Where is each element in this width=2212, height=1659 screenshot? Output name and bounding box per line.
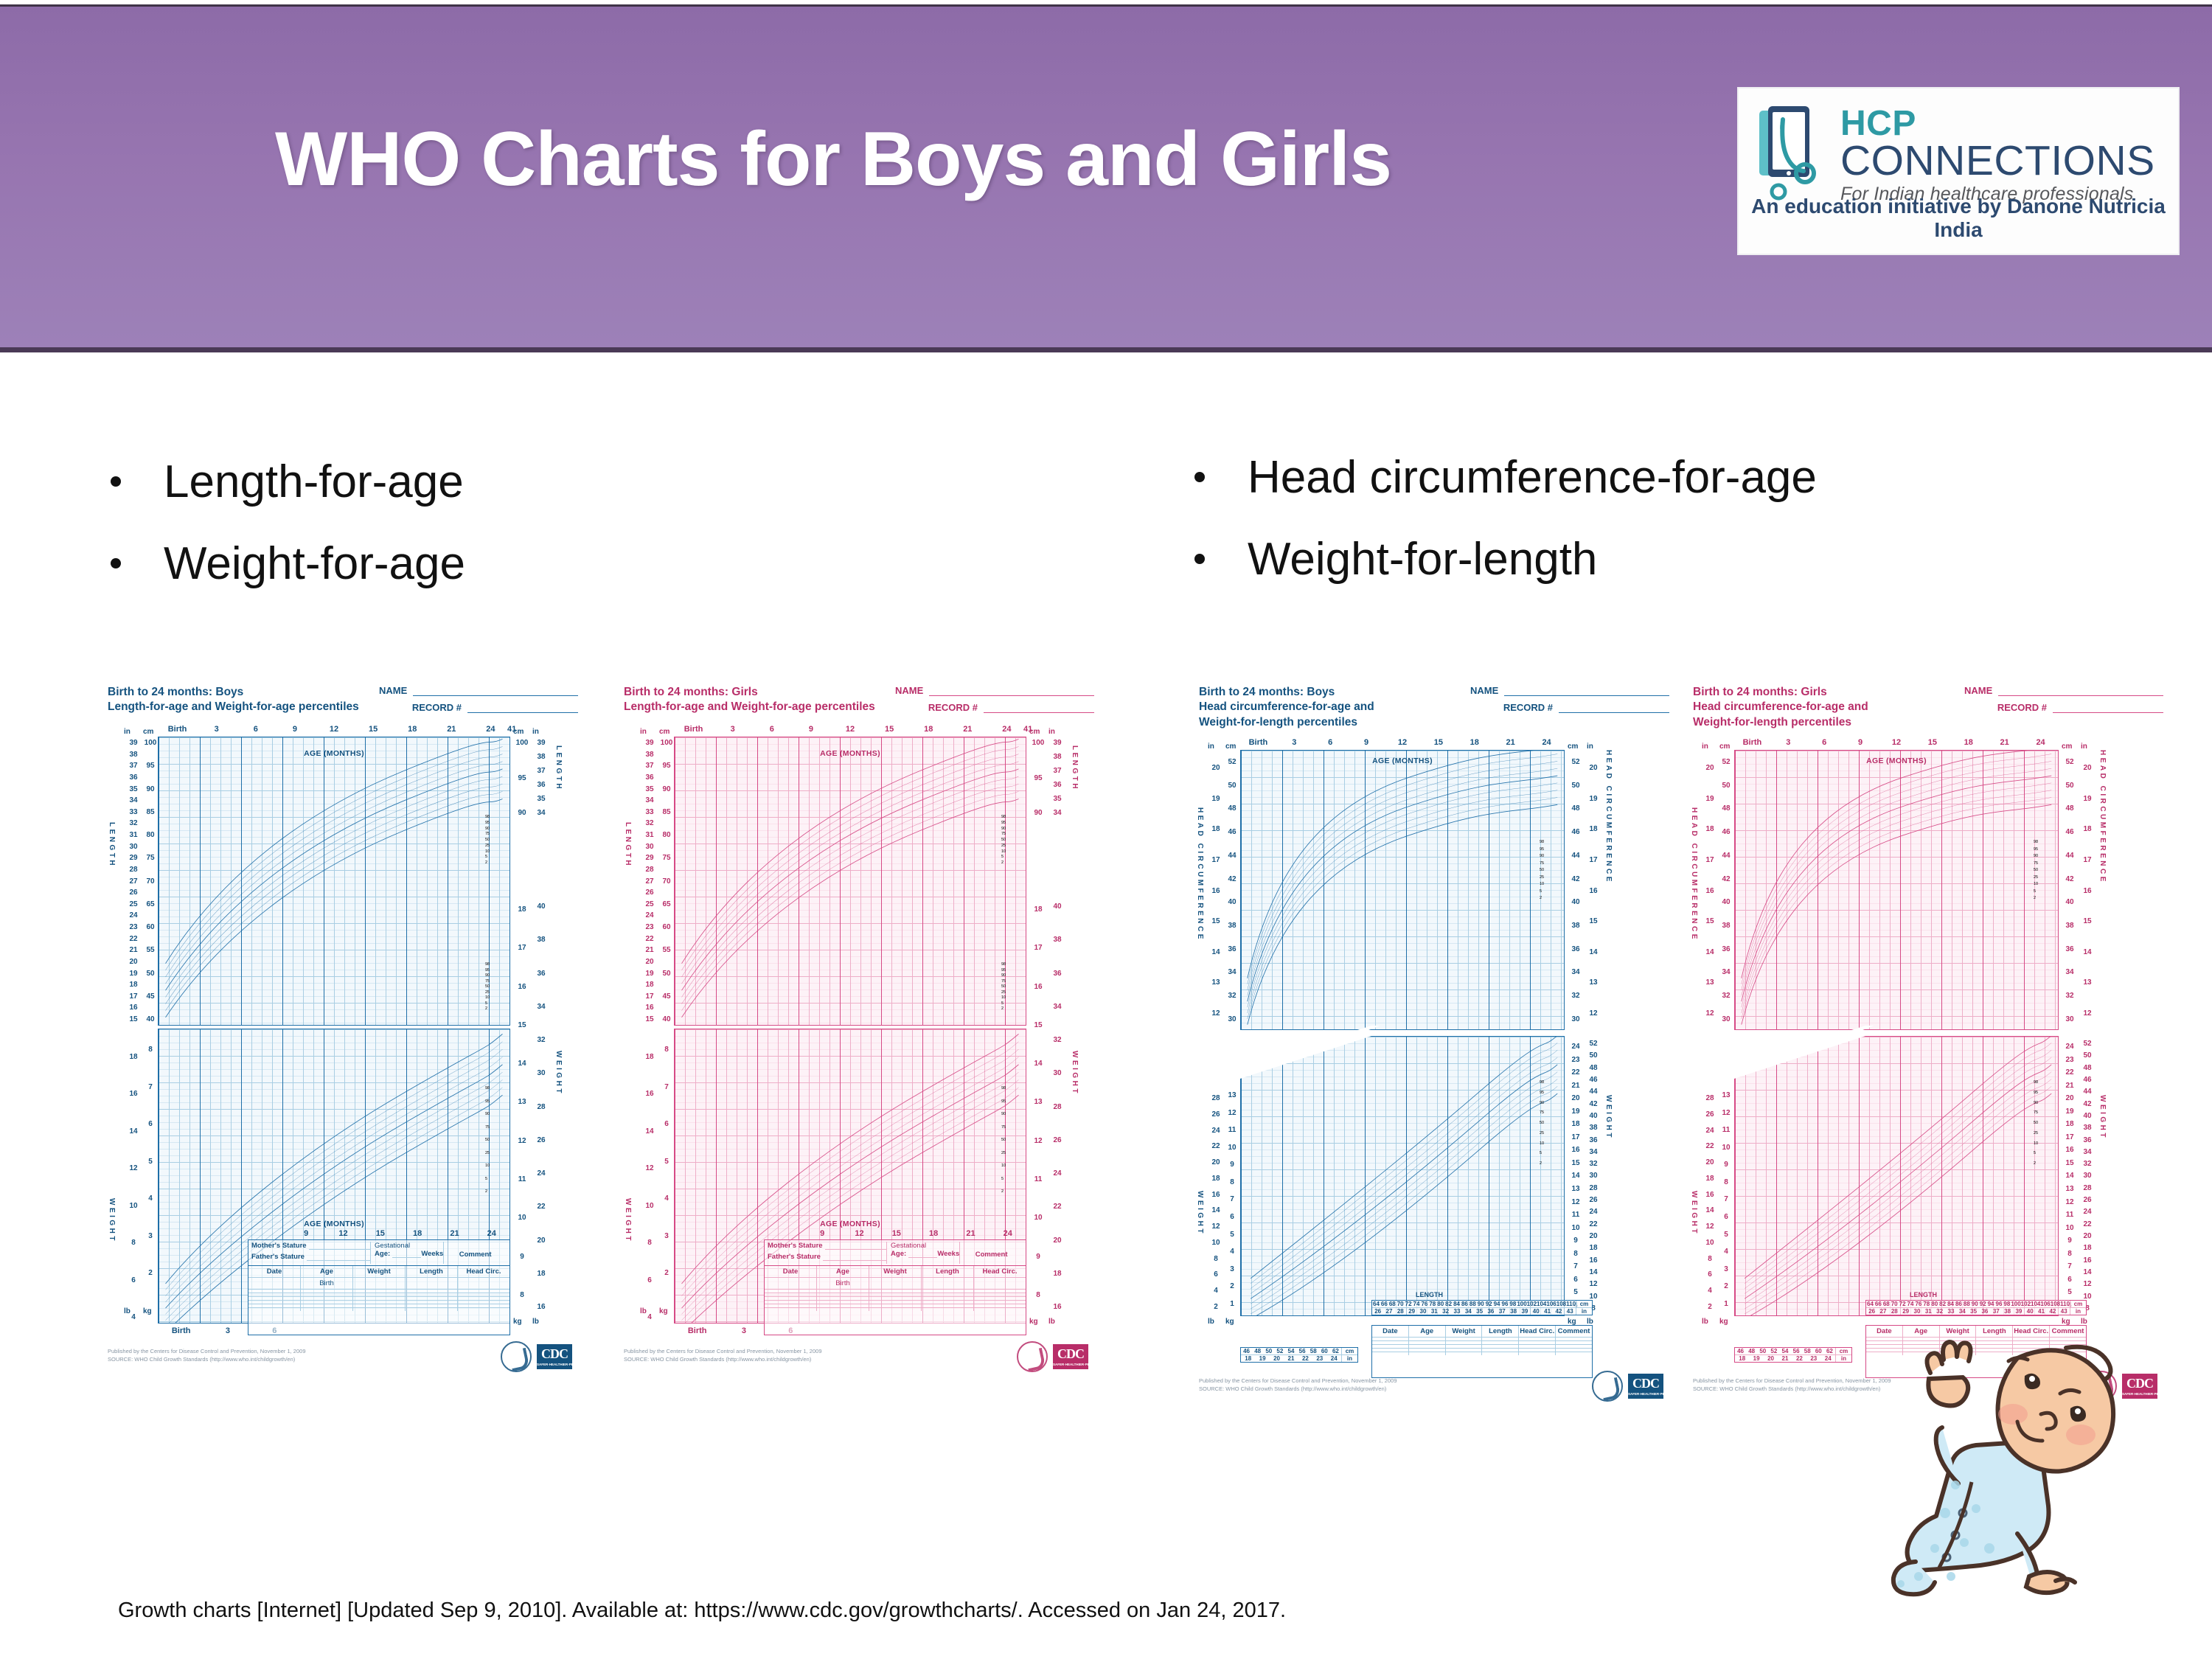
table-cell[interactable]: [1519, 1349, 1556, 1352]
patient-fields: NAME RECORD #: [1964, 685, 2163, 719]
mothers-stature-input[interactable]: [309, 1243, 370, 1250]
axis-tick: 12: [1718, 1109, 1734, 1117]
table-cell[interactable]: [1372, 1352, 1409, 1355]
length-in-axis-right: 393837363534: [532, 737, 550, 819]
axis-tick: 24: [2062, 1043, 2078, 1051]
percentile-label: 2: [2034, 896, 2036, 900]
table-cell[interactable]: Birth: [301, 1278, 353, 1289]
axis-tick: 55: [658, 946, 675, 954]
percentile-curve: [1742, 790, 2051, 1013]
table-cell[interactable]: [1446, 1349, 1483, 1352]
table-cell[interactable]: [301, 1308, 353, 1311]
percentile-curve: [1251, 1086, 1557, 1314]
table-cell[interactable]: [1556, 1349, 1592, 1352]
axis-tick: 14: [1702, 948, 1718, 956]
percentile-label: 10: [1540, 1141, 1544, 1146]
table-row[interactable]: [248, 1308, 509, 1311]
axis-tick: 33: [124, 808, 143, 816]
axis-tick: 39: [1519, 1308, 1530, 1315]
table-cell[interactable]: [1482, 1338, 1519, 1340]
table-cell[interactable]: [974, 1304, 1026, 1307]
axis-tick: 24: [1208, 1127, 1224, 1135]
axis-tick: 12: [513, 1137, 531, 1145]
table-cell[interactable]: [406, 1293, 458, 1296]
table-cell[interactable]: [1446, 1352, 1483, 1355]
x-axis-lower-inner: 91215182124: [804, 1229, 1026, 1238]
axis-tick: 58: [1308, 1348, 1319, 1354]
table-cell[interactable]: [1519, 1341, 1556, 1344]
table-cell[interactable]: [1409, 1345, 1446, 1348]
table-cell[interactable]: [922, 1293, 974, 1296]
axis-tick: 12: [830, 725, 869, 734]
axis-tick: 14: [1208, 948, 1224, 956]
name-field[interactable]: NAME: [895, 685, 1094, 696]
axis-tick: 78: [1428, 1301, 1436, 1307]
table-cell[interactable]: [248, 1304, 301, 1307]
axis-tick: 40: [1718, 898, 1734, 906]
axis-tick: 11: [1568, 1211, 1584, 1219]
axis-tick: 23: [640, 923, 659, 931]
unit-label: cm: [1341, 1348, 1357, 1354]
table-cell[interactable]: [406, 1304, 458, 1307]
weight-kg-axis-left: 8765432: [658, 1043, 675, 1279]
table-cell[interactable]: [458, 1290, 509, 1293]
axis-tick: 74: [1907, 1301, 1915, 1307]
unit-label: lb: [1208, 1318, 1214, 1326]
table-cell[interactable]: [301, 1293, 353, 1296]
table-cell[interactable]: [765, 1290, 817, 1293]
axis-tick: 30: [1568, 1015, 1584, 1023]
axis-tick: 29: [1406, 1308, 1417, 1315]
table-cell[interactable]: [248, 1290, 301, 1293]
axis-tick: 26: [124, 888, 143, 897]
percentile-curve: [1745, 1043, 2051, 1283]
table-cell[interactable]: [1446, 1341, 1483, 1344]
table-cell[interactable]: [922, 1308, 974, 1311]
record-input-rule[interactable]: [2053, 704, 2163, 713]
table-cell[interactable]: [922, 1301, 974, 1304]
table-cell[interactable]: [1446, 1338, 1483, 1340]
logo-line-connections: CONNECTIONS: [1840, 140, 2155, 182]
percentile-label: 50: [2034, 1121, 2038, 1125]
axis-tick: 70: [1397, 1301, 1405, 1307]
axis-tick: 39: [124, 739, 143, 747]
axis-tick: 17: [1568, 1133, 1584, 1141]
percentile-curves: [1241, 751, 1564, 1029]
table-cell[interactable]: [248, 1293, 301, 1296]
table-cell[interactable]: [922, 1304, 974, 1307]
record-label: RECORD #: [1503, 702, 1553, 713]
table-cell[interactable]: [1556, 1352, 1592, 1355]
axis-tick: 18: [1208, 825, 1224, 833]
measurement-entry-table[interactable]: DateAgeWeightLengthHead Circ.Comment: [1371, 1325, 1593, 1378]
axis-tick: 34: [1585, 1148, 1601, 1156]
axis-tick: 3: [1718, 1265, 1734, 1273]
gestational-age-field[interactable]: Gestational Age: Weeks: [886, 1242, 959, 1264]
mothers-stature-label: Mother's Stature: [768, 1242, 823, 1250]
axis-tick: 6: [236, 725, 275, 734]
table-cell[interactable]: [869, 1297, 922, 1300]
percentile-label: 2: [485, 1006, 487, 1011]
table-cell[interactable]: [458, 1308, 509, 1311]
axis-tick: 55: [142, 946, 159, 954]
axis-tick: 14: [2079, 948, 2096, 956]
table-cell[interactable]: [1446, 1345, 1483, 1348]
axis-tick: 48: [1718, 804, 1734, 813]
axis-tick: 22: [2062, 1068, 2078, 1077]
axis-tick: 15: [362, 1229, 399, 1238]
table-cell[interactable]: [353, 1301, 406, 1304]
axis-tick: 8: [1208, 1255, 1224, 1263]
table-cell[interactable]: [974, 1308, 1026, 1311]
axis-tick: 18: [1735, 1355, 1749, 1362]
weight-lb-axis-left: 1816141210864: [640, 1051, 659, 1324]
table-cell[interactable]: [406, 1297, 458, 1300]
table-cell[interactable]: [301, 1290, 353, 1293]
table-cell[interactable]: [1372, 1345, 1409, 1348]
axis-tick: 4: [658, 1194, 675, 1203]
table-cell[interactable]: [1519, 1338, 1556, 1340]
table-cell[interactable]: [869, 1304, 922, 1307]
record-field[interactable]: RECORD #: [1470, 702, 1669, 713]
axis-tick: 42: [2047, 1308, 2058, 1315]
gestational-weeks-input[interactable]: [908, 1251, 937, 1258]
table-row[interactable]: Birth: [248, 1278, 509, 1290]
table-cell[interactable]: [1409, 1341, 1446, 1344]
axis-tick: 52: [1768, 1348, 1779, 1354]
table-cell[interactable]: [458, 1304, 509, 1307]
axis-tick: 19: [2079, 795, 2096, 803]
table-row[interactable]: Birth: [765, 1278, 1026, 1290]
axis-tick: 6: [142, 1120, 159, 1128]
fathers-stature-input[interactable]: [307, 1254, 370, 1261]
record-field[interactable]: RECORD #: [379, 702, 578, 713]
axis-tick: 44: [1585, 1088, 1601, 1096]
axis-tick: 95: [513, 774, 531, 782]
percentile-curve: [682, 784, 1019, 1004]
percentile-label: 2: [1001, 1189, 1004, 1194]
axis-tick: 66: [1380, 1301, 1388, 1307]
axis-tick: 12: [1702, 1222, 1718, 1231]
name-field[interactable]: NAME: [1964, 685, 2163, 696]
table-cell[interactable]: [817, 1297, 869, 1300]
unit-label: in: [2070, 1308, 2086, 1315]
table-row[interactable]: [1372, 1352, 1592, 1355]
axis-tick: 32: [1048, 1036, 1066, 1044]
gestational-weeks[interactable]: Age: Weeks: [375, 1250, 443, 1258]
percentile-label: 10: [2034, 1141, 2038, 1146]
headcirc-axis-title-left: HEAD CIRCUMFERENCE: [1196, 807, 1203, 942]
axis-tick: 22: [1702, 1142, 1718, 1150]
table-row[interactable]: [765, 1308, 1026, 1311]
unit-label: in: [1048, 728, 1055, 736]
table-cell[interactable]: [406, 1290, 458, 1293]
unit-label: cm: [1719, 742, 1730, 751]
record-label: RECORD #: [928, 702, 978, 713]
table-cell[interactable]: [817, 1293, 869, 1296]
axis-tick: 44: [2062, 852, 2078, 860]
percentile-curve: [1745, 1050, 2051, 1288]
name-input-rule[interactable]: [1504, 687, 1669, 696]
axis-tick: 18: [124, 981, 143, 989]
percentile-curve: [1742, 804, 2051, 1024]
percentile-label: 98: [2034, 1080, 2038, 1085]
gestational-weeks-input[interactable]: [392, 1251, 421, 1258]
table-cell[interactable]: [1482, 1352, 1519, 1355]
record-input-rule[interactable]: [467, 704, 578, 713]
table-cell[interactable]: [458, 1301, 509, 1304]
axis-tick: 90: [513, 809, 531, 817]
table-cell[interactable]: [765, 1304, 817, 1307]
footer-line-2: SOURCE: WHO Child Growth Standards (http…: [624, 1355, 821, 1363]
axis-tick: 90: [658, 785, 675, 793]
axis-tick: 8: [142, 1046, 159, 1054]
table-cell[interactable]: [458, 1297, 509, 1300]
percentile-curves: [1241, 1037, 1564, 1315]
mothers-stature-field[interactable]: Mother's Stature: [768, 1242, 886, 1250]
length-cm-axis-right: 1009590: [1029, 737, 1047, 819]
axis-tick: 11: [513, 1175, 531, 1183]
name-field[interactable]: NAME: [1470, 685, 1669, 696]
axis-tick: 16: [1585, 887, 1601, 895]
table-cell[interactable]: [1556, 1345, 1592, 1348]
percentile-curve: [1248, 776, 1557, 1001]
column-header: Head Circ.: [974, 1266, 1026, 1277]
table-cell[interactable]: [1409, 1349, 1446, 1352]
percentile-label: 95: [2034, 1091, 2038, 1095]
axis-tick: 23: [1568, 1056, 1584, 1064]
measurement-entry-table[interactable]: Mother's Stature Father's Stature Gestat…: [764, 1239, 1026, 1335]
table-cell[interactable]: [974, 1290, 1026, 1293]
table-cell[interactable]: [817, 1290, 869, 1293]
axis-tick: 42: [1718, 875, 1734, 883]
name-input-rule[interactable]: [413, 687, 578, 696]
percentile-curve: [1745, 1079, 2051, 1309]
axis-tick: 10: [1568, 1224, 1584, 1232]
fathers-stature-field[interactable]: Father's Stature: [251, 1253, 370, 1261]
weight-for-length-panel: [1734, 1036, 2059, 1316]
table-cell[interactable]: [353, 1290, 406, 1293]
weight-lb-axis-right: 40383634323028262422201816: [532, 900, 550, 1313]
table-cell[interactable]: [922, 1278, 974, 1289]
weight-kg-axis-left: 8765432: [142, 1043, 159, 1279]
table-cell[interactable]: [869, 1290, 922, 1293]
table-cell[interactable]: [869, 1278, 922, 1289]
table-cell[interactable]: [1519, 1352, 1556, 1355]
axis-tick: 22: [640, 935, 659, 943]
fathers-stature-input[interactable]: [823, 1254, 886, 1261]
record-input-rule[interactable]: [1559, 704, 1669, 713]
percentile-curve: [1248, 798, 1557, 1019]
measurement-entry-table[interactable]: Mother's Stature Father's Stature Gestat…: [248, 1239, 510, 1335]
percentile-curve: [1251, 1065, 1557, 1299]
table-cell[interactable]: [406, 1301, 458, 1304]
table-cell[interactable]: [817, 1301, 869, 1304]
axis-tick: 58: [1802, 1348, 1813, 1354]
table-cell[interactable]: [974, 1293, 1026, 1296]
axis-tick: 8: [1224, 1178, 1240, 1186]
name-input-rule[interactable]: [929, 687, 1094, 696]
axis-tick: 5: [1568, 1288, 1584, 1296]
axis-tick: 23: [124, 923, 143, 931]
axis-tick: 21: [952, 1229, 989, 1238]
axis-tick: 37: [124, 762, 143, 770]
percentile-curve: [682, 791, 1019, 1010]
percentile-label: 95: [485, 821, 490, 825]
table-cell[interactable]: [353, 1278, 406, 1289]
table-cell[interactable]: [1556, 1341, 1592, 1344]
axis-tick: 33: [1451, 1308, 1462, 1315]
percentile-curve: [1745, 1065, 2051, 1299]
table-cell[interactable]: [765, 1278, 817, 1289]
axis-tick: 15: [1208, 917, 1224, 925]
axis-tick: 12: [1568, 1198, 1584, 1206]
axis-tick: 34: [1718, 968, 1734, 976]
axis-tick: 66: [1874, 1301, 1882, 1307]
axis-tick: 9: [791, 725, 830, 734]
gestational-weeks[interactable]: Age: Weeks: [891, 1250, 959, 1258]
record-field[interactable]: RECORD #: [1964, 702, 2163, 713]
patient-fields: NAME RECORD #: [379, 685, 578, 719]
table-cell[interactable]: [817, 1308, 869, 1311]
table-cell[interactable]: [406, 1278, 458, 1289]
table-cell[interactable]: [301, 1304, 353, 1307]
axis-tick: 46: [2062, 828, 2078, 836]
table-cell[interactable]: [922, 1297, 974, 1300]
table-cell[interactable]: [974, 1301, 1026, 1304]
axis-tick: 70: [1891, 1301, 1899, 1307]
axis-tick: 35: [124, 785, 143, 793]
axis-tick: 13: [2062, 1185, 2078, 1193]
axis-tick: 106: [1546, 1301, 1556, 1307]
table-cell[interactable]: [974, 1297, 1026, 1300]
table-cell[interactable]: [765, 1293, 817, 1296]
axis-tick: 9: [1029, 1253, 1047, 1261]
percentile-label: 98: [1540, 840, 1544, 844]
table-cell[interactable]: [765, 1297, 817, 1300]
axis-tick: 3: [204, 1326, 251, 1335]
percentile-curves: [1735, 1037, 2058, 1315]
fathers-stature-field[interactable]: Father's Stature: [768, 1253, 886, 1261]
table-cell[interactable]: [1372, 1349, 1409, 1352]
axis-tick: 80: [1930, 1301, 1938, 1307]
table-cell[interactable]: [301, 1301, 353, 1304]
table-cell[interactable]: [974, 1278, 1026, 1289]
table-cell[interactable]: [353, 1293, 406, 1296]
name-input-rule[interactable]: [1998, 687, 2163, 696]
unit-label: kg: [1225, 1318, 1234, 1326]
table-cell[interactable]: [1519, 1345, 1556, 1348]
record-input-rule[interactable]: [984, 704, 1094, 713]
percentile-label: 25: [2034, 1131, 2038, 1135]
axis-tick: 10: [2079, 1293, 2096, 1301]
table-cell[interactable]: Birth: [817, 1278, 869, 1289]
table-cell[interactable]: [458, 1293, 509, 1296]
table-cell[interactable]: [1482, 1349, 1519, 1352]
table-cell[interactable]: [248, 1278, 301, 1289]
mothers-stature-field[interactable]: Mother's Stature: [251, 1242, 370, 1250]
table-cell[interactable]: [353, 1304, 406, 1307]
table-cell[interactable]: [1372, 1341, 1409, 1344]
percentile-curve: [1248, 751, 1557, 978]
percentile-label: 90: [2034, 1101, 2038, 1105]
table-cell[interactable]: [869, 1301, 922, 1304]
table-cell[interactable]: [1372, 1338, 1409, 1340]
axis-tick: 10: [1224, 1144, 1240, 1152]
table-cell[interactable]: [248, 1301, 301, 1304]
table-cell[interactable]: [248, 1308, 301, 1311]
table-cell[interactable]: [458, 1278, 509, 1289]
percentile-curve: [166, 762, 503, 984]
age-label: Age:: [891, 1250, 906, 1258]
head-circumference-panel: AGE (MONTHS): [1240, 750, 1565, 1030]
source-citation: Growth charts [Internet] [Updated Sep 9,…: [118, 1599, 1286, 1623]
table-cell[interactable]: [1409, 1352, 1446, 1355]
table-cell[interactable]: [765, 1301, 817, 1304]
axis-tick: 15: [878, 1229, 915, 1238]
axis-tick: 19: [1585, 795, 1601, 803]
axis-tick: 20: [1270, 1355, 1284, 1362]
column-header: Weight: [869, 1266, 922, 1277]
axis-tick: 34: [1048, 809, 1066, 817]
table-cell[interactable]: [1409, 1338, 1446, 1340]
table-cell[interactable]: [301, 1297, 353, 1300]
axis-tick: 19: [640, 970, 659, 978]
gestational-age-field[interactable]: Gestational Age: Weeks: [370, 1242, 443, 1264]
axis-tick: 2: [1718, 1282, 1734, 1290]
axis-tick: 17: [1208, 856, 1224, 864]
mothers-stature-input[interactable]: [825, 1243, 886, 1250]
table-cell[interactable]: [922, 1290, 974, 1293]
axis-tick: 54: [1779, 1348, 1790, 1354]
unit-label: kg: [513, 1318, 522, 1326]
axis-tick: 20: [1702, 764, 1718, 772]
table-cell[interactable]: [248, 1297, 301, 1300]
axis-tick: 8: [640, 1239, 659, 1247]
column-header: Head Circ.: [1519, 1326, 1556, 1337]
weight-for-length-scale-lower: 464850525456586062cm18192021222324in: [1734, 1347, 1852, 1363]
table-cell[interactable]: [406, 1308, 458, 1311]
axis-tick: 28: [640, 866, 659, 874]
axis-tick: 21: [436, 1229, 473, 1238]
axis-tick: 95: [658, 762, 675, 770]
percentile-curve: [1251, 1050, 1557, 1288]
weight-kg-axis-right: 242322212019181716151413121110987654: [1568, 1040, 1584, 1312]
table-cell[interactable]: [353, 1308, 406, 1311]
axis-tick: 62: [1330, 1348, 1341, 1354]
table-cell[interactable]: [765, 1308, 817, 1311]
axis-tick: 56: [1297, 1348, 1308, 1354]
axis-tick: Birth: [158, 725, 197, 734]
table-cell[interactable]: [817, 1304, 869, 1307]
axis-tick: 52: [1568, 758, 1584, 766]
axis-tick: 11: [1718, 1126, 1734, 1134]
table-cell[interactable]: [869, 1293, 922, 1296]
axis-tick: 30: [1224, 1015, 1240, 1023]
axis-tick: 34: [532, 1003, 550, 1011]
cdc-logo: CDC SAFER·HEALTHIER·PEOPLE™: [1628, 1374, 1663, 1399]
axis-tick: 4: [142, 1194, 159, 1203]
record-field[interactable]: RECORD #: [895, 702, 1094, 713]
table-cell[interactable]: [353, 1297, 406, 1300]
table-cell[interactable]: [1556, 1338, 1592, 1340]
axis-tick: 2: [142, 1269, 159, 1277]
axis-tick: 48: [1585, 1064, 1601, 1072]
table-cell[interactable]: [1482, 1341, 1519, 1344]
name-field[interactable]: NAME: [379, 685, 578, 696]
table-cell[interactable]: [1482, 1345, 1519, 1348]
table-cell[interactable]: [869, 1308, 922, 1311]
